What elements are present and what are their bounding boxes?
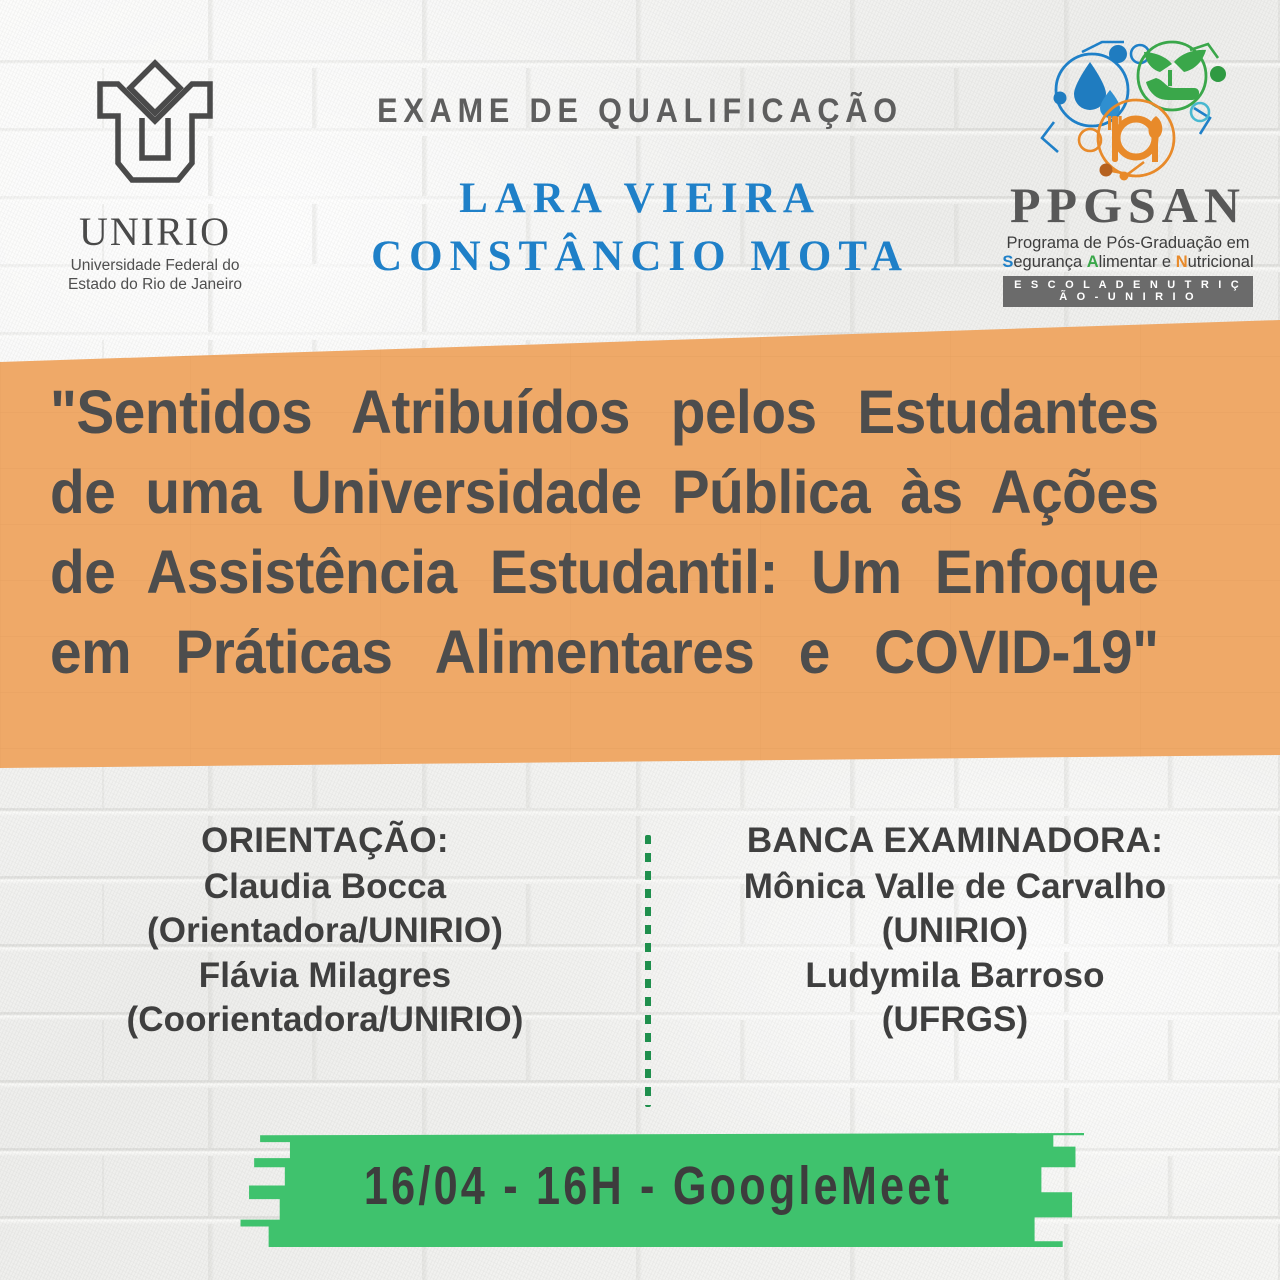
event-datetime-platform: 16/04 - 16H - GoogleMeet: [317, 1155, 999, 1217]
unirio-subtitle-line2: Estado do Rio de Janeiro: [35, 276, 275, 295]
thesis-title: "Sentidos Atribuídos pelos Estudantes de…: [50, 372, 1159, 772]
advisors-heading: ORIENTAÇÃO:: [20, 820, 630, 863]
plate-cutlery-icon: [1079, 100, 1174, 181]
ppgsan-logo: PPGSAN Programa de Pós-Graduação em Segu…: [994, 34, 1262, 307]
unirio-wordmark: UNIRIO: [35, 212, 275, 252]
committee-name-2: Ludymila Barroso: [650, 954, 1260, 998]
ppgsan-wordmark: PPGSAN: [994, 182, 1262, 230]
student-name-line2: CONSTÂNCIO MOTA: [300, 228, 980, 286]
committee-affiliation-1: (UNIRIO): [650, 909, 1260, 953]
student-name-line1: LARA VIEIRA: [300, 170, 980, 228]
student-name: LARA VIEIRA CONSTÂNCIO MOTA: [300, 170, 980, 286]
committee-column: BANCA EXAMINADORA: Mônica Valle de Carva…: [650, 820, 1260, 1042]
header: UNIRIO Universidade Federal do Estado do…: [0, 0, 1280, 320]
ppgsan-tagline-line2: Segurança Alimentar e Nutricional: [994, 253, 1262, 272]
ppgsan-tagline-line1: Programa de Pós-Graduação em: [994, 234, 1262, 253]
ppgsan-school-bar: E S C O L A D E N U T R I Ç Ã O - U N I …: [1003, 276, 1253, 307]
advisor-name-1: Claudia Bocca: [20, 865, 630, 909]
advisor-role-1: (Orientadora/UNIRIO): [20, 909, 630, 953]
committee-heading: BANCA EXAMINADORA:: [650, 820, 1260, 863]
committee-name-1: Mônica Valle de Carvalho: [650, 865, 1260, 909]
unirio-subtitle-line1: Universidade Federal do: [35, 257, 275, 276]
event-type-kicker: EXAME DE QUALIFICAÇÃO: [334, 92, 946, 131]
unirio-shield-icon: [35, 58, 275, 208]
advisor-name-2: Flávia Milagres: [20, 954, 630, 998]
poster-canvas: UNIRIO Universidade Federal do Estado do…: [0, 0, 1280, 1280]
plant-in-hand-icon: [1138, 42, 1226, 121]
ppgsan-icon-cluster: [994, 34, 1262, 186]
people-section: ORIENTAÇÃO: Claudia Bocca (Orientadora/U…: [0, 820, 1280, 1120]
water-drop-icon: [1054, 45, 1150, 126]
advisor-role-2: (Coorientadora/UNIRIO): [20, 998, 630, 1042]
column-dotted-divider: [645, 835, 651, 1107]
unirio-logo: UNIRIO Universidade Federal do Estado do…: [35, 58, 275, 295]
advisors-column: ORIENTAÇÃO: Claudia Bocca (Orientadora/U…: [20, 820, 630, 1042]
committee-affiliation-2: (UFRGS): [650, 998, 1260, 1042]
